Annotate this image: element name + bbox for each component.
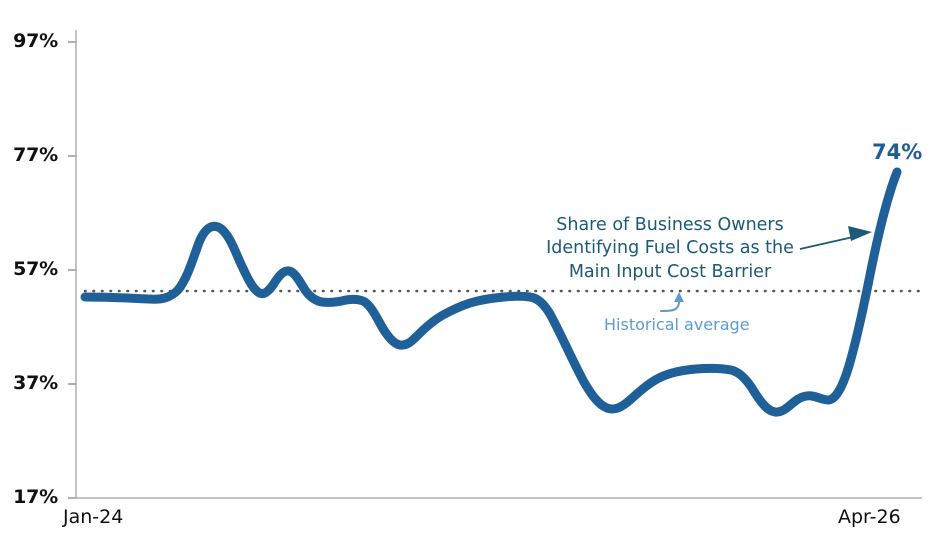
historical-average-arrow [661,292,684,311]
line-chart: 97% 77% 57% 37% 17% Jan-24 Apr-26 Share … [0,0,950,550]
data-series-line [85,172,897,412]
series-callout-label: Share of Business Owners Identifying Fue… [530,214,810,284]
callout-arrow [800,226,872,249]
y-tick-text: 37% [0,374,58,393]
y-tick-text: 77% [0,146,58,165]
end-value-label: 74% [872,142,922,163]
x-tick-label-end: Apr-26 [838,508,901,527]
y-tick-text: 17% [0,488,58,507]
x-tick-label-start: Jan-24 [63,508,123,527]
historical-average-arrow-head [674,292,684,302]
y-tick-text: 57% [0,260,58,279]
historical-average-label: Historical average [604,317,750,333]
y-tick-text: 97% [0,32,58,51]
callout-arrow-head [848,226,872,241]
